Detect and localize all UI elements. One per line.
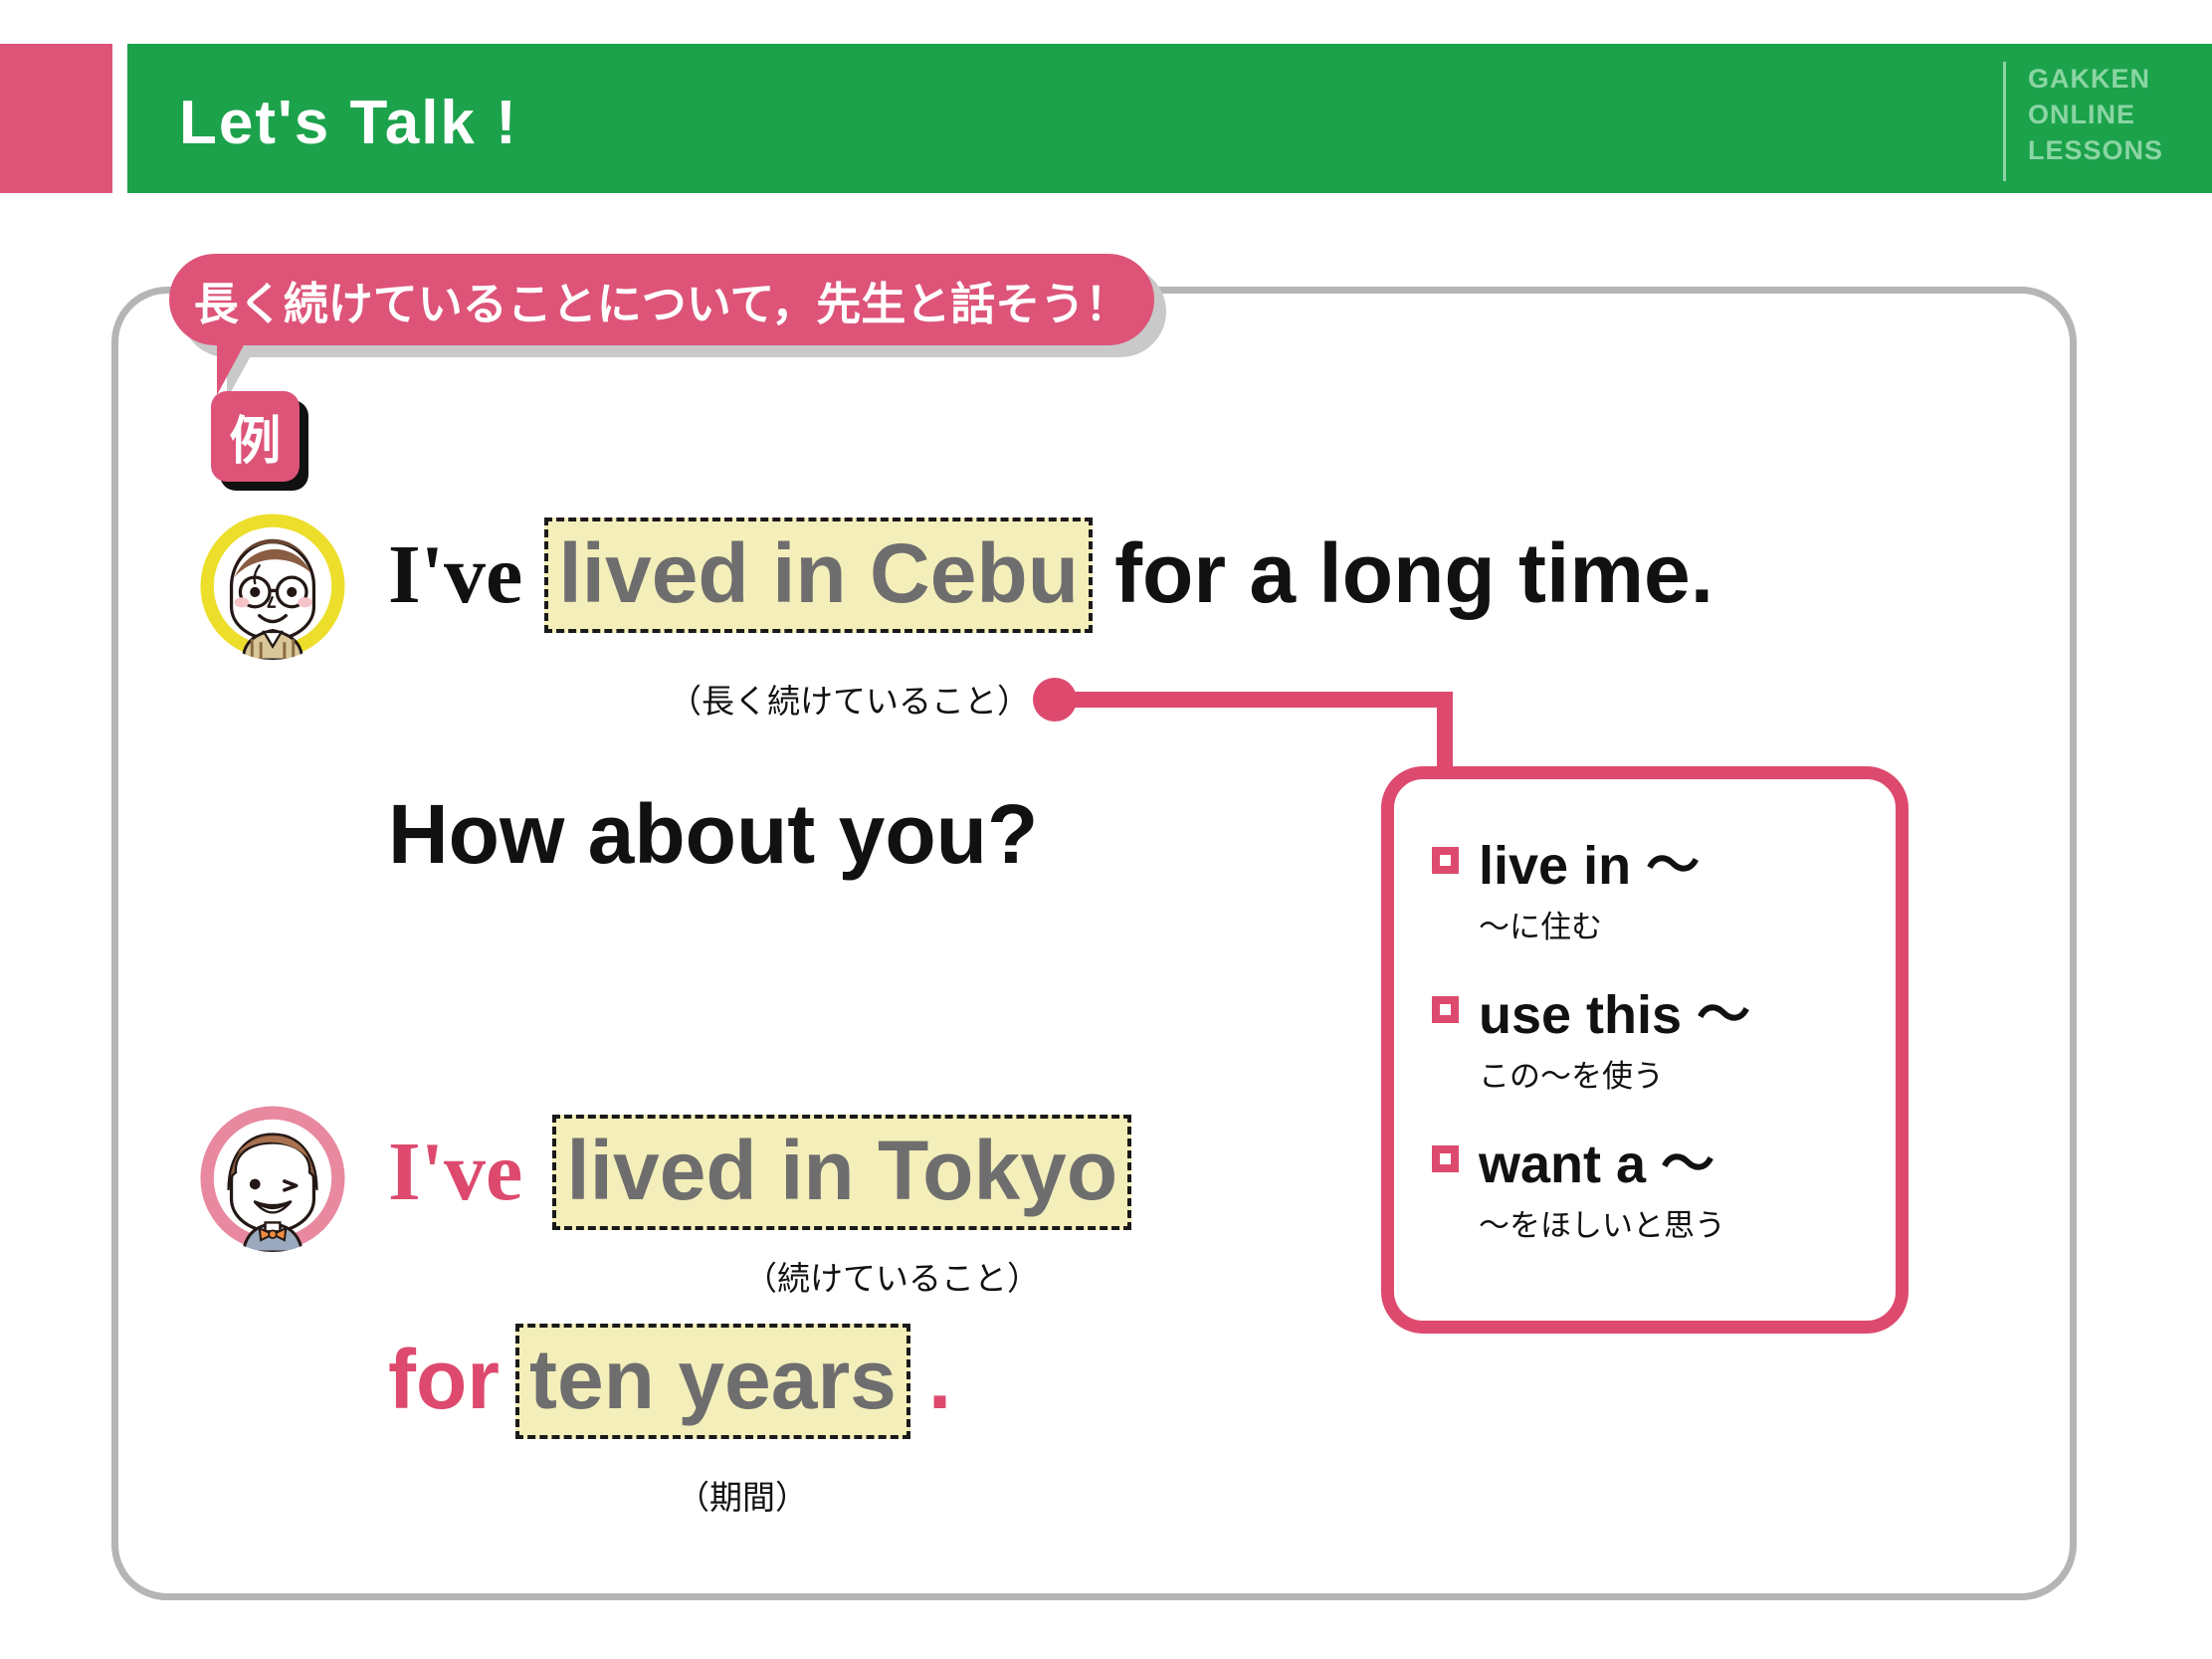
student-sentence-caption-2: （期間） — [677, 1471, 808, 1519]
vocab-english: use this 〜 — [1479, 970, 1750, 1049]
connector-line-horizontal — [1055, 692, 1453, 708]
vocab-item[interactable]: use this 〜 この〜を使う — [1432, 970, 1896, 1096]
brand-line-lessons: Lessons — [2028, 133, 2187, 169]
page-title: Let's Talk ! — [179, 88, 518, 158]
blank-lived-in-tokyo[interactable]: lived in Tokyo — [552, 1115, 1131, 1230]
checkbox-square-icon[interactable] — [1432, 996, 1459, 1023]
vocab-english: live in 〜 — [1479, 821, 1700, 900]
bubble-body: 長く続けていることについて，先生と話そう！ — [169, 254, 1154, 345]
student-sentence-caption-1: （続けていること） — [744, 1252, 1040, 1300]
vocab-head: use this 〜 — [1432, 970, 1896, 1049]
vocabulary-box: live in 〜 〜に住む use this 〜 この〜を使う want a … — [1381, 766, 1909, 1334]
student-sentence-row-1: I've lived in Tokyo — [388, 1115, 1131, 1230]
vocab-item[interactable]: live in 〜 〜に住む — [1432, 821, 1896, 946]
teacher-sentence-suffix: for a long time. — [1114, 525, 1713, 622]
header-pink-tab — [0, 44, 112, 193]
vocab-japanese: 〜をほしいと思う — [1479, 1200, 1896, 1245]
student-avatar — [199, 1105, 346, 1252]
student-sentence-prefix: I've — [388, 1124, 522, 1220]
example-badge-body: 例 — [211, 391, 300, 482]
for-keyword: for — [388, 1332, 500, 1428]
vocab-japanese: 〜に住む — [1479, 902, 1896, 946]
brand-line-gakken: Gakken — [2028, 62, 2187, 98]
vocab-english: want a 〜 — [1479, 1120, 1714, 1198]
blank-lived-in-cebu[interactable]: lived in Cebu — [544, 518, 1093, 633]
teacher-sentence-caption: （長く続けていること） — [669, 675, 1030, 723]
vocab-head: live in 〜 — [1432, 821, 1896, 900]
brand-logo: Gakken Online Lessons — [2003, 62, 2187, 181]
brand-line-online: Online — [2028, 98, 2187, 133]
how-about-you-row: How about you? — [388, 786, 1038, 883]
example-badge: 例 — [211, 391, 308, 491]
student-sentence-row-2: for ten years . — [388, 1324, 951, 1439]
header-bar: Let's Talk ! Gakken Online Lessons — [0, 44, 2212, 193]
blank-ten-years[interactable]: ten years — [515, 1324, 910, 1439]
instruction-text: 長く続けていることについて，先生と話そう！ — [194, 268, 1130, 332]
vocab-head: want a 〜 — [1432, 1120, 1896, 1198]
period-mark: . — [928, 1332, 951, 1428]
how-about-you-text: How about you? — [388, 786, 1038, 883]
checkbox-square-icon[interactable] — [1432, 847, 1459, 874]
vocab-item[interactable]: want a 〜 〜をほしいと思う — [1432, 1120, 1896, 1245]
bubble-tail-icon — [217, 343, 245, 395]
vocab-japanese: この〜を使う — [1479, 1051, 1896, 1096]
teacher-sentence-row: I've lived in Cebu for a long time. — [388, 518, 1713, 633]
teacher-sentence-prefix: I've — [388, 526, 522, 623]
teacher-avatar — [199, 513, 346, 660]
example-badge-label: 例 — [229, 399, 281, 474]
checkbox-square-icon[interactable] — [1432, 1145, 1459, 1172]
